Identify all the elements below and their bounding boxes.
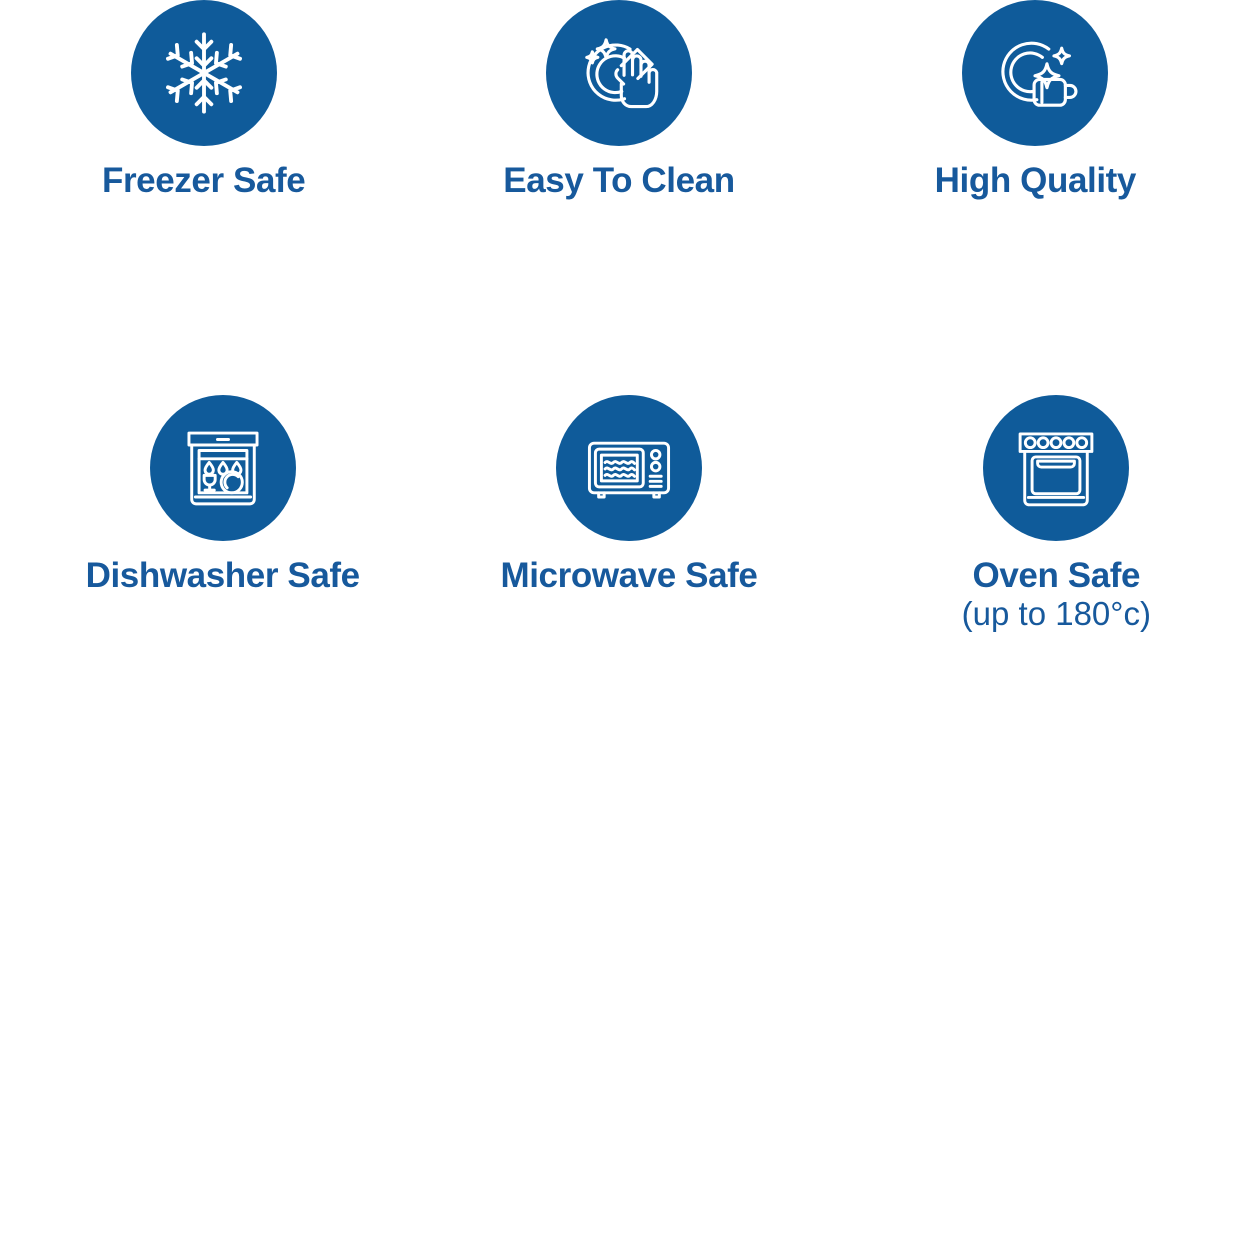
feature-microwave-safe: Microwave Safe xyxy=(422,364,835,694)
dishwasher-safe-badge xyxy=(150,395,296,541)
feature-icon-grid: Freezer Safe Easy To xyxy=(0,0,1240,1240)
freezer-safe-badge xyxy=(131,0,277,146)
feature-label: Microwave Safe xyxy=(500,556,757,595)
feature-label: High Quality xyxy=(935,161,1136,200)
oven-icon xyxy=(1010,422,1102,514)
snowflake-icon xyxy=(158,27,250,119)
easy-to-clean-badge xyxy=(546,0,692,146)
oven-safe-badge xyxy=(983,395,1129,541)
plate-mug-sparkle-icon xyxy=(989,27,1081,119)
feature-label: Dishwasher Safe xyxy=(86,556,360,595)
feature-high-quality: High Quality xyxy=(829,0,1240,364)
microwave-icon xyxy=(583,422,675,514)
feature-oven-safe: Oven Safe (up to 180°c) xyxy=(850,364,1240,694)
feature-easy-to-clean: Easy To Clean xyxy=(412,0,825,364)
feature-sublabel: (up to 180°c) xyxy=(962,595,1151,634)
feature-dishwasher-safe: Dishwasher Safe xyxy=(16,364,429,694)
feature-label: Easy To Clean xyxy=(503,161,734,200)
microwave-safe-badge xyxy=(556,395,702,541)
feature-freezer-safe: Freezer Safe xyxy=(0,0,410,364)
hand-wiping-plate-icon xyxy=(573,27,665,119)
high-quality-badge xyxy=(962,0,1108,146)
feature-label: Freezer Safe xyxy=(102,161,305,200)
feature-label: Oven Safe xyxy=(973,556,1141,595)
dishwasher-icon xyxy=(177,422,269,514)
